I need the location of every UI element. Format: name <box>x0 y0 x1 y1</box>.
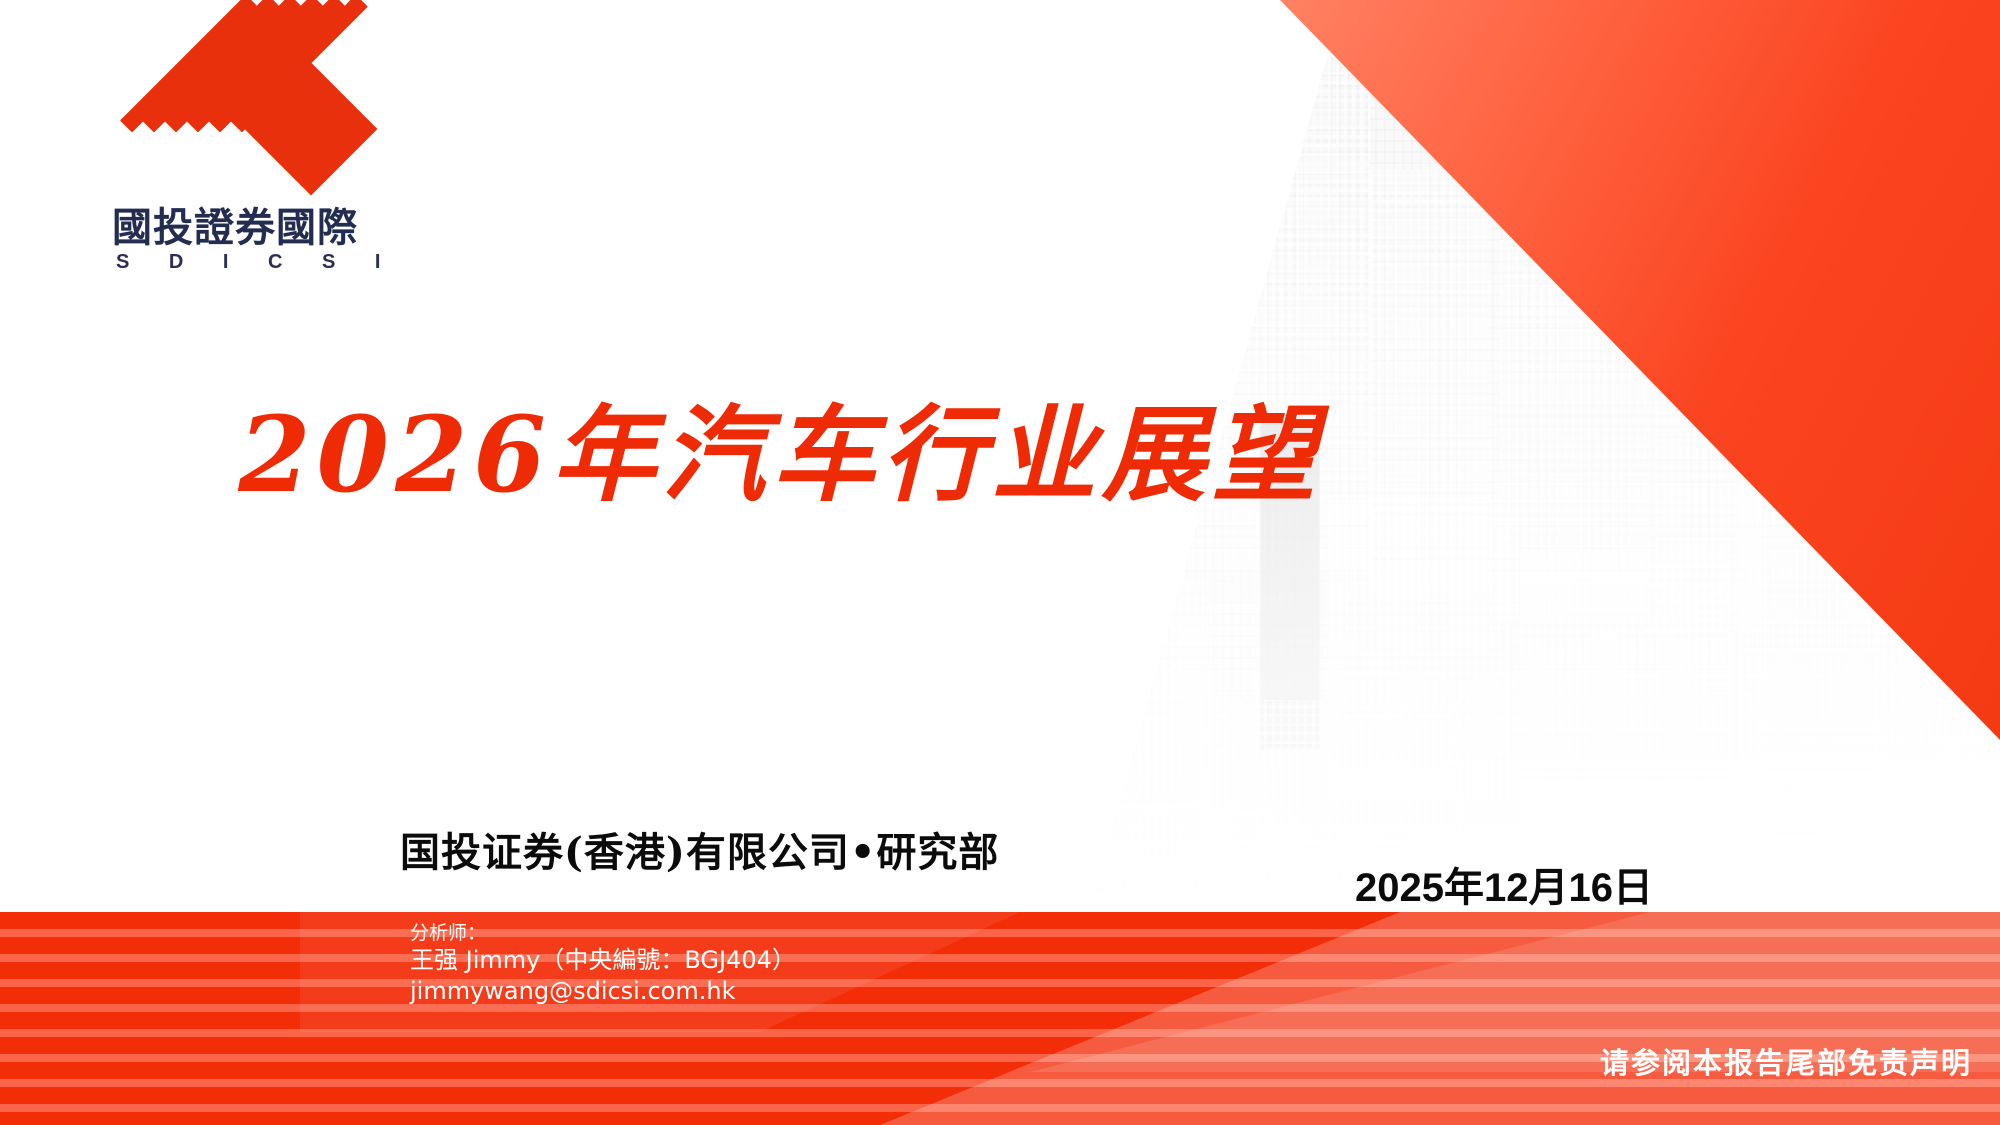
building-block <box>1370 170 1490 590</box>
building-block <box>1520 550 1730 830</box>
logo-chinese-name: 國投證券國際 <box>112 208 432 248</box>
analyst-info: 分析师： 王强 Jimmy（中央編號：BGJ404） jimmywang@sdi… <box>410 921 796 1007</box>
building-block <box>1740 460 1880 840</box>
building-block <box>1330 500 1510 800</box>
analyst-name: 王强 Jimmy（中央編號：BGJ404） <box>410 945 796 976</box>
footer-band <box>0 912 2000 1125</box>
disclaimer-note: 请参阅本报告尾部免责声明 <box>1600 1040 1972 1082</box>
building-block <box>1655 300 1765 630</box>
logo-latin-name: S D I C S I <box>112 252 432 272</box>
sdicsi-diamond-mark-icon <box>124 62 362 198</box>
analyst-email[interactable]: jimmywang@sdicsi.com.hk <box>410 976 796 1007</box>
cover-slide: 國投證券國際 S D I C S I 2026年汽车行业展望 国投证券(香港)有… <box>0 0 2000 1125</box>
department-line: 国投证券(香港)有限公司•研究部 <box>400 820 999 878</box>
building-block <box>1050 580 1210 880</box>
building-block <box>1875 380 2000 850</box>
page-title: 2026年汽车行业展望 <box>0 398 1560 512</box>
analyst-label: 分析师： <box>410 921 796 945</box>
publication-date: 2025年12月16日 <box>1355 855 1653 913</box>
company-logo: 國投證券國際 S D I C S I <box>112 62 432 272</box>
red-corner-triangle <box>1280 0 2000 740</box>
